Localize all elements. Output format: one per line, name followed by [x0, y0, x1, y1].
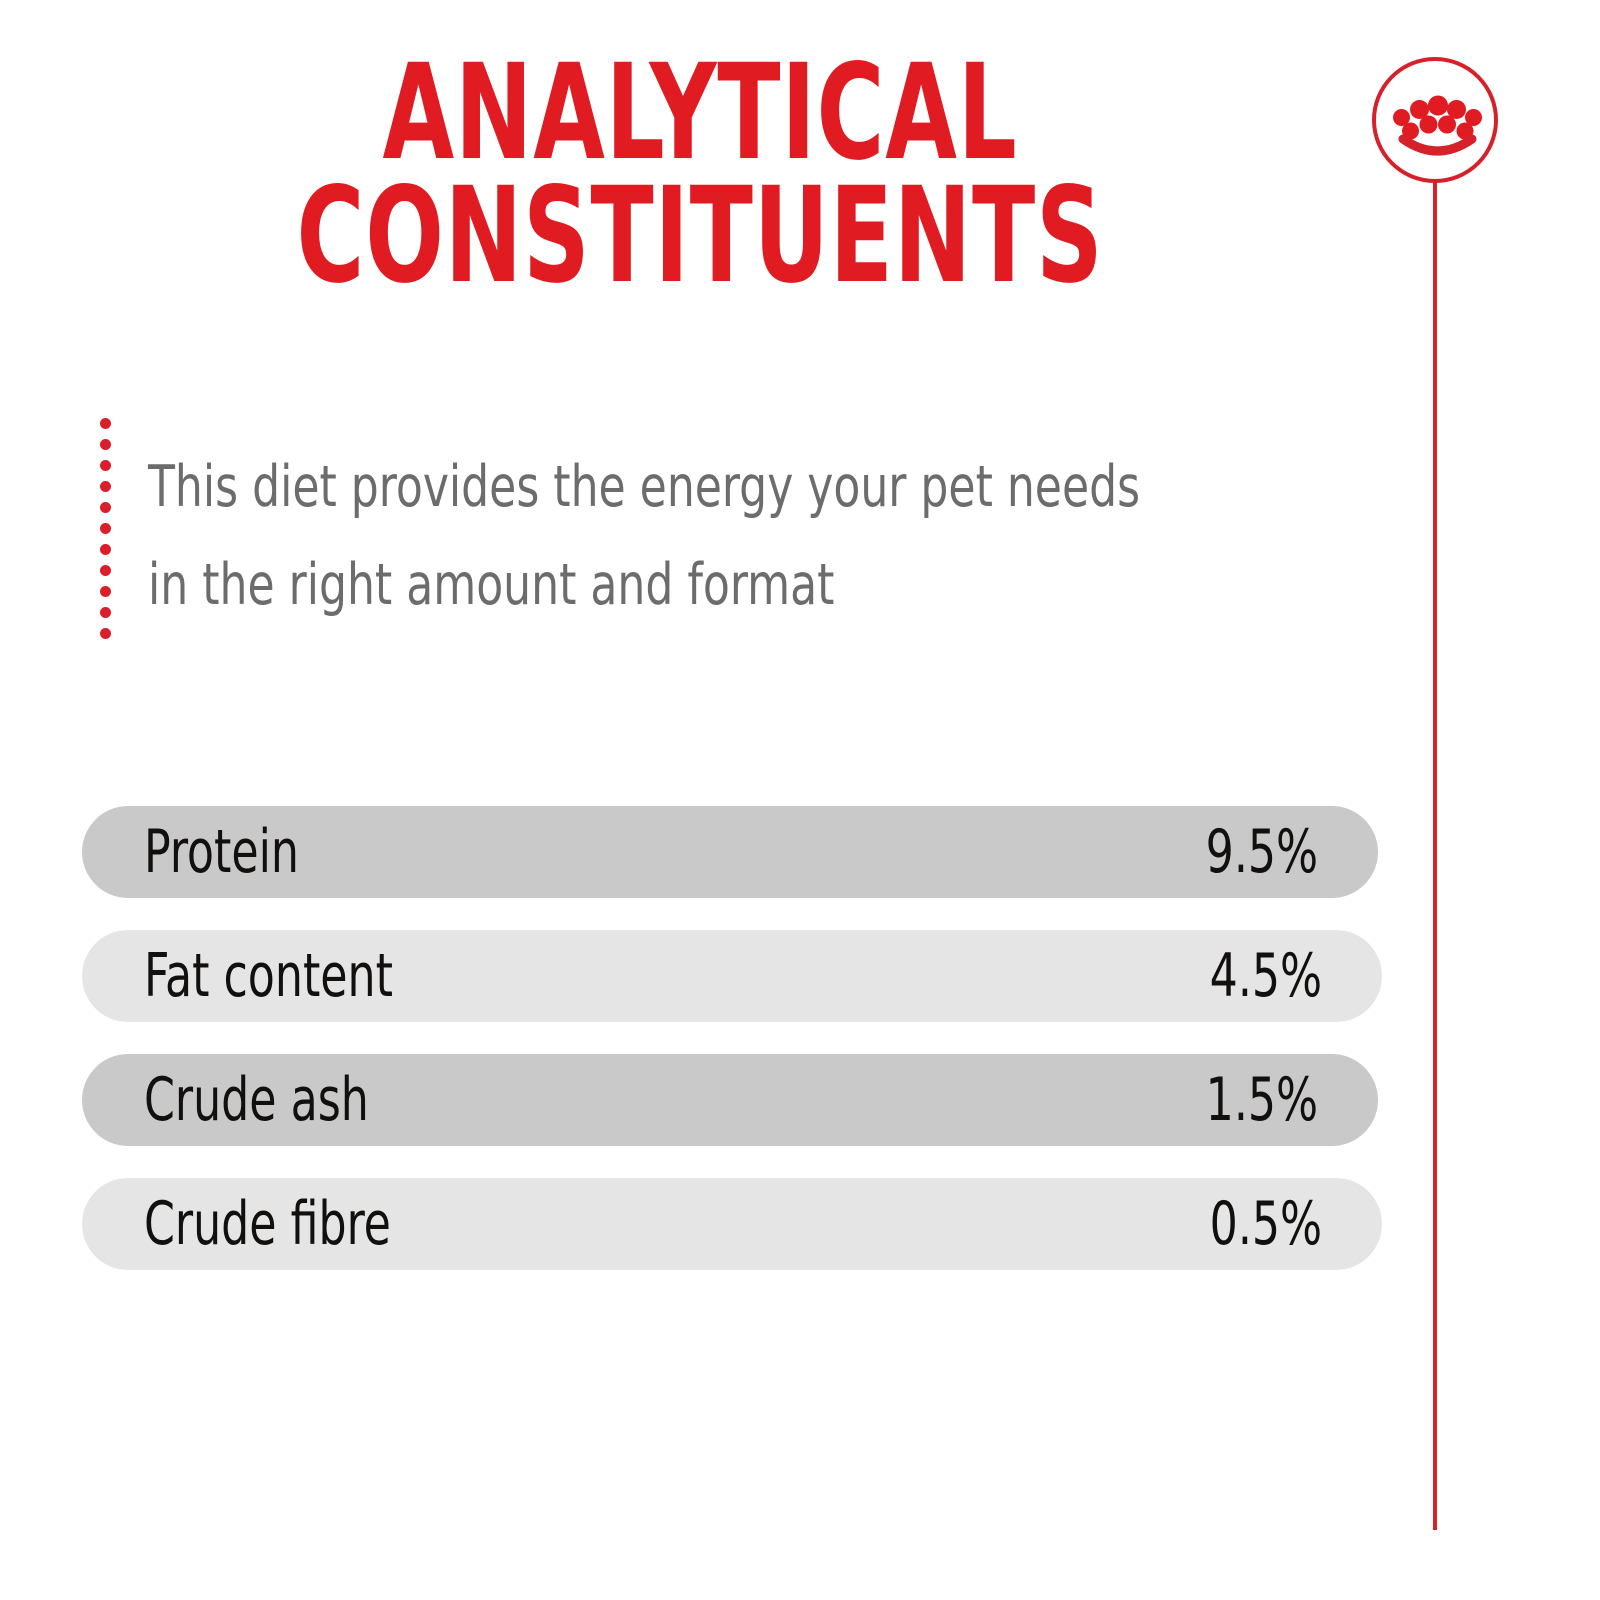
constituent-row: Protein9.5% — [82, 806, 1378, 898]
royal-canin-crown-icon — [1370, 55, 1500, 185]
constituent-value: 1.5% — [1206, 1070, 1318, 1130]
rule-dot — [100, 418, 111, 429]
rule-dot — [100, 502, 111, 513]
rule-dot — [100, 607, 111, 618]
rule-dot — [100, 586, 111, 597]
constituent-value: 9.5% — [1206, 822, 1318, 882]
constituents-table: Protein9.5%Fat content4.5%Crude ash1.5%C… — [82, 806, 1382, 1302]
dotted-vertical-rule-icon — [100, 418, 112, 640]
page-title-line-2: CONSTITUENTS — [201, 175, 1199, 298]
brand-stem-line — [1433, 182, 1437, 1530]
constituent-label: Crude ash — [144, 1070, 369, 1130]
constituent-label: Fat content — [144, 946, 393, 1006]
constituent-label: Crude fibre — [144, 1194, 391, 1254]
rule-dot — [100, 523, 111, 534]
rule-dot — [100, 565, 111, 576]
analytical-constituents-panel: ANALYTICAL CONSTITUENTS This diet provid… — [0, 0, 1600, 1600]
rule-dot — [100, 544, 111, 555]
rule-dot — [100, 460, 111, 471]
constituent-label: Protein — [144, 822, 299, 882]
intro-line-1: This diet provides the energy your pet n… — [148, 438, 1111, 536]
rule-dot — [100, 439, 111, 450]
constituent-value: 0.5% — [1210, 1194, 1322, 1254]
page-title: ANALYTICAL CONSTITUENTS — [60, 52, 1340, 298]
rule-dot — [100, 628, 111, 639]
intro-paragraph: This diet provides the energy your pet n… — [148, 438, 1268, 634]
rule-dot — [100, 481, 111, 492]
constituent-row: Fat content4.5% — [82, 930, 1382, 1022]
constituent-row: Crude ash1.5% — [82, 1054, 1378, 1146]
page-title-line-1: ANALYTICAL — [201, 52, 1199, 175]
constituent-row: Crude fibre0.5% — [82, 1178, 1382, 1270]
constituent-value: 4.5% — [1210, 946, 1322, 1006]
intro-line-2: in the right amount and format — [148, 536, 1111, 634]
